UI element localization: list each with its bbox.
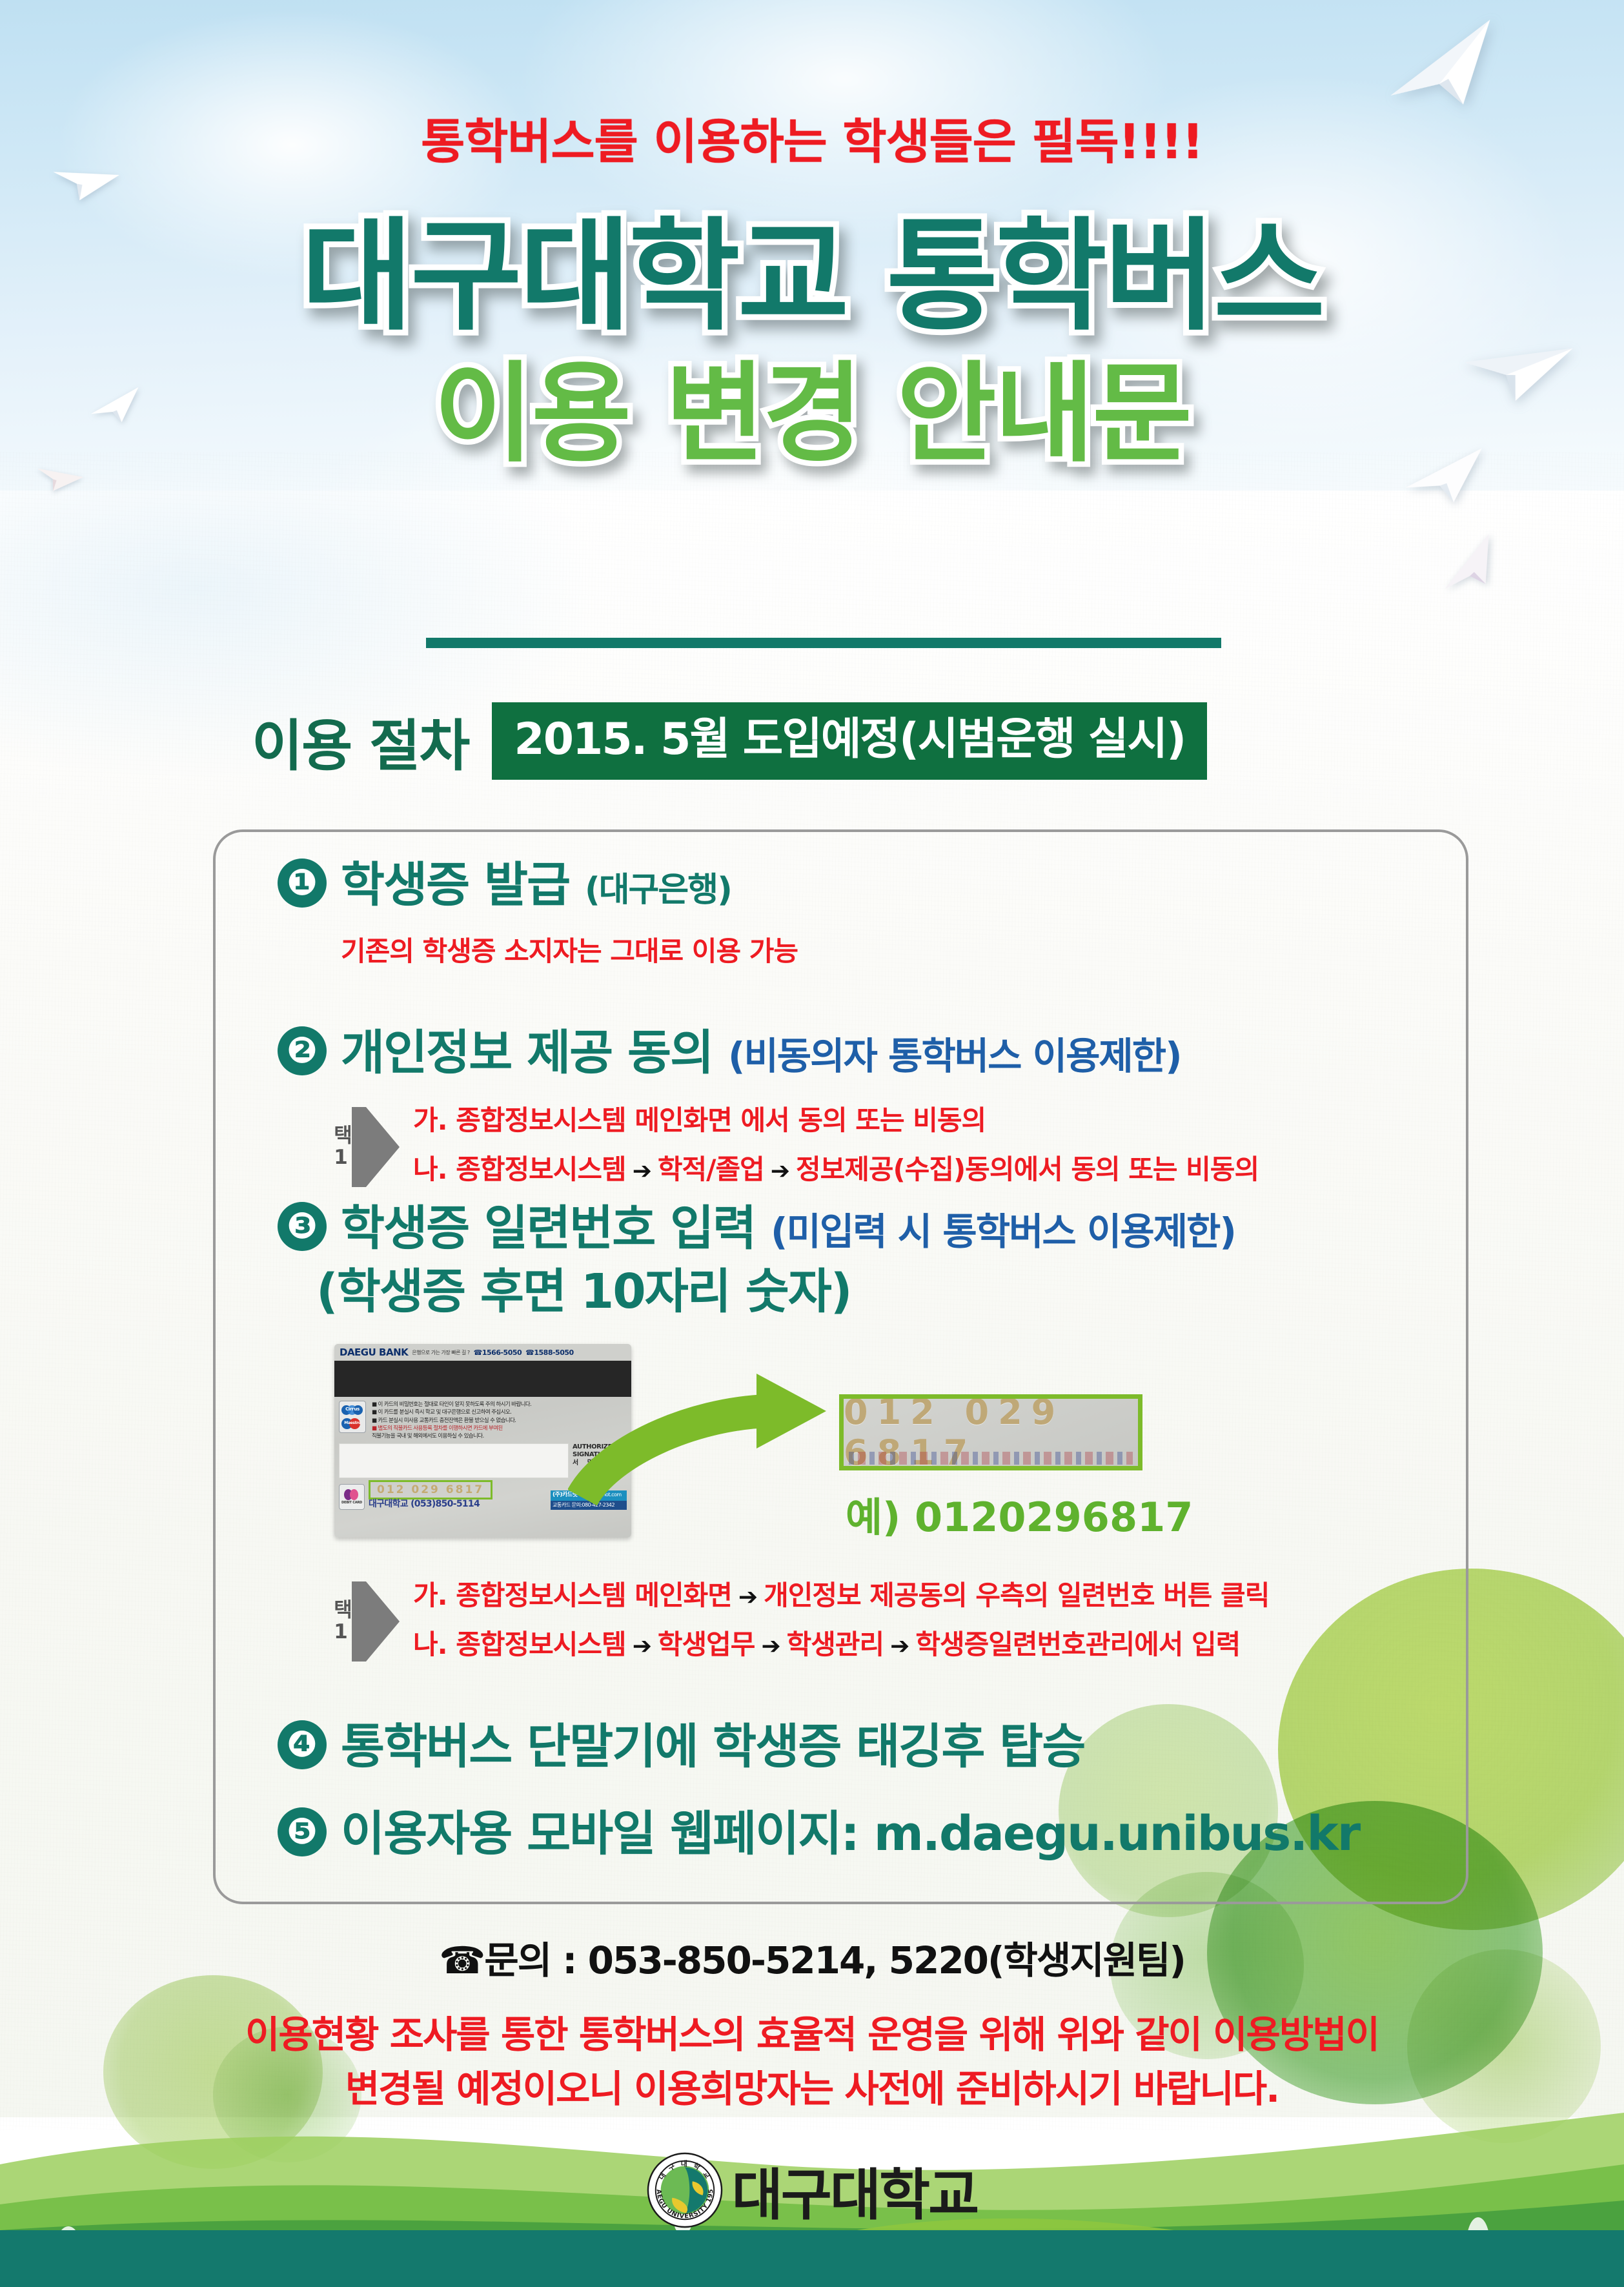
step-title-2: 개인정보 제공 동의 (비동의자 통학버스 이용제한): [341, 1026, 1181, 1080]
pick-one-arrow-icon: [366, 1581, 400, 1662]
card-serial-zone: 012 029 6817 대구대학교 (053)850-5114: [369, 1480, 547, 1510]
arrow-right-icon: ➔: [764, 1158, 796, 1184]
pick-one-label: 택1: [330, 1124, 350, 1170]
step-number-5: ❺: [278, 1807, 327, 1856]
step-3-sub-a: 가. 종합정보시스템 메인화면 ➔ 개인정보 제공동의 우측의 일련번호 버튼 …: [413, 1580, 1269, 1611]
step-title-3: 학생증 일련번호 입력 (미입력 시 통학버스 이용제한): [341, 1202, 1235, 1255]
step-number-4: ❹: [278, 1720, 327, 1769]
card-network-logos: Cirrus Maestro: [339, 1401, 367, 1441]
pick-one-label: 택1: [330, 1599, 350, 1645]
notice-line-2: 변경될 예정이오니 이용희망자는 사전에 준비하시기 바랍니다.: [0, 2062, 1624, 2116]
step-5: ❺ 이용자용 모바일 웹페이지: m.daegu.unibus.kr: [278, 1807, 1359, 1861]
step-3-sub-b-p1: 나. 종합정보시스템: [413, 1629, 626, 1660]
maestro-icon: Maestro: [341, 1418, 363, 1430]
step-3-sub-b-p4: 학생증일련번호관리에서 입력: [915, 1629, 1240, 1660]
step-title-4: 통학버스 단말기에 학생증 태깅후 탑승: [341, 1720, 1084, 1774]
debit-card-label: DEBIT CARD: [341, 1501, 362, 1505]
card-university-line: 대구대학교 (053)850-5114: [369, 1497, 547, 1510]
cirrus-icon: Cirrus: [341, 1404, 363, 1417]
title-line-2: 이용 변경 안내문: [0, 357, 1624, 471]
step-3-sub-b: 나. 종합정보시스템 ➔ 학생업무 ➔ 학생관리 ➔ 학생증일련번호관리에서 입…: [413, 1629, 1240, 1660]
step-2-paren: (비동의자 통학버스 이용제한): [728, 1034, 1181, 1078]
step-2-sub-a: 가. 종합정보시스템 메인화면 에서 동의 또는 비동의: [413, 1105, 986, 1136]
step-4: ❹ 통학버스 단말기에 학생증 태깅후 탑승: [278, 1720, 1084, 1774]
step-3-sub-b-p3: 학생관리: [787, 1629, 884, 1660]
step-2-main: 개인정보 제공 동의: [341, 1025, 713, 1081]
green-curved-arrow-icon: [568, 1368, 865, 1513]
bottom-teal-bar: [0, 2230, 1624, 2287]
title-line-1: 대구대학교 통학버스: [0, 213, 1624, 340]
section-header: 이용 절차 2015. 5월 도입예정(시범운행 실시): [252, 700, 1207, 781]
card-bank-name: DAEGU BANK: [340, 1347, 408, 1358]
step-3-sub-a-p2: 개인정보 제공동의 우측의 일련번호 버튼 클릭: [764, 1580, 1269, 1611]
card-signature-strip: [339, 1443, 569, 1478]
serial-zoom-callout: 012 029 6817: [839, 1394, 1142, 1470]
daegu-university-emblem-icon: 대 구 대 학 교 DAEGU UNIVERSITY 1956: [647, 2152, 723, 2228]
step-3-title-line2: (학생증 후면 10자리 숫자): [316, 1265, 851, 1319]
step-number-2: ❷: [278, 1026, 327, 1075]
step-title-1: 학생증 발급 (대구은행): [341, 859, 731, 912]
university-wordmark: 대구대학교: [732, 2150, 978, 2230]
university-logo-row: 대 구 대 학 교 DAEGU UNIVERSITY 1956 대구대학교: [0, 2150, 1624, 2230]
notice-block: 이용현황 조사를 통한 통학버스의 효율적 운영을 위해 위와 같이 이용방법이…: [0, 2007, 1624, 2116]
step-3-sub-a-p1: 가. 종합정보시스템 메인화면: [413, 1580, 732, 1611]
cirrus-maestro-logo-box: Cirrus Maestro: [339, 1401, 366, 1433]
step-title-5: 이용자용 모바일 웹페이지: m.daegu.unibus.kr: [341, 1807, 1359, 1861]
step-2-sub-b: 나. 종합정보시스템 ➔ 학적/졸업 ➔ 정보제공(수집)동의에서 동의 또는 …: [413, 1154, 1259, 1185]
arrow-right-icon: ➔: [626, 1158, 658, 1184]
step-3-sub-b-p2: 학생업무: [658, 1629, 755, 1660]
poster-title: 대구대학교 통학버스 이용 변경 안내문: [0, 213, 1624, 471]
serial-example-text: 예) 0120296817: [846, 1485, 1193, 1543]
pick-one-bar: [352, 1107, 366, 1187]
debit-card-logo: DEBIT CARD: [339, 1484, 365, 1510]
title-divider: [426, 638, 1221, 648]
arrow-right-icon: ➔: [732, 1584, 764, 1611]
debit-mark-icon: [344, 1489, 360, 1501]
notice-line-1: 이용현황 조사를 통한 통학버스의 효율적 운영을 위해 위와 같이 이용방법이: [0, 2007, 1624, 2062]
step-number-3: ❸: [278, 1202, 327, 1251]
step-2-sub-b-p2: 학적/졸업: [658, 1154, 764, 1185]
arrow-right-icon: ➔: [755, 1633, 786, 1660]
section-banner: 2015. 5월 도입예정(시범운행 실시): [492, 702, 1207, 780]
poster-root: 통학버스를 이용하는 학생들은 필독!!!! 대구대학교 통학버스 이용 변경 …: [0, 0, 1624, 2287]
pick-one-bar: [352, 1581, 366, 1662]
step-3-main: 학생증 일련번호 입력: [341, 1201, 755, 1256]
contact-line: ☎문의 : 053-850-5214, 5220(학생지원팀): [0, 1930, 1624, 1984]
step-2-sub-b-p1: 나. 종합정보시스템: [413, 1154, 626, 1185]
step-1: ❶ 학생증 발급 (대구은행): [278, 859, 731, 912]
arrow-right-icon: ➔: [884, 1633, 915, 1660]
card-tel-1: ☎1566-5050: [474, 1348, 522, 1357]
serial-callout-ghost-line: [849, 1452, 1133, 1465]
step-2-sub-b-p3: 정보제공(수집)동의에서 동의 또는 비동의: [796, 1154, 1259, 1185]
step-number-1: ❶: [278, 859, 327, 908]
step-1-note: 기존의 학생증 소지자는 그대로 이용 가능: [341, 930, 798, 969]
pick-one-arrow-icon: [366, 1107, 400, 1187]
step-3-paren: (미입력 시 통학버스 이용제한): [771, 1210, 1235, 1254]
section-label: 이용 절차: [252, 700, 469, 781]
pick-one-marker-step2: 택1: [330, 1107, 400, 1187]
arrow-right-icon: ➔: [626, 1633, 658, 1660]
step-2: ❷ 개인정보 제공 동의 (비동의자 통학버스 이용제한): [278, 1026, 1181, 1080]
step-1-paren: (대구은행): [585, 871, 731, 910]
red-subtitle: 통학버스를 이용하는 학생들은 필독!!!!: [0, 103, 1624, 172]
card-tel-2: ☎1588-5050: [525, 1348, 574, 1357]
step-1-main: 학생증 발급: [341, 857, 569, 913]
card-bank-slogan: 은행으로 가는 가장 빠른 길 ?: [412, 1349, 469, 1356]
pick-one-marker-step3: 택1: [330, 1581, 400, 1662]
card-header-strip: DAEGU BANK 은행으로 가는 가장 빠른 길 ? ☎1566-5050 …: [334, 1344, 631, 1361]
step-3: ❸ 학생증 일련번호 입력 (미입력 시 통학버스 이용제한): [278, 1202, 1235, 1255]
